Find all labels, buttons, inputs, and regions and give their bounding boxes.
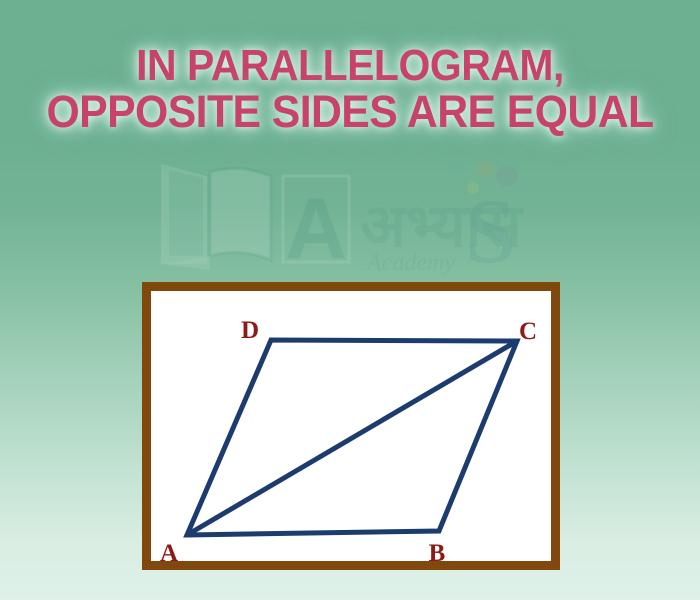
logo-devanagari-text: अभ्यास	[360, 191, 524, 261]
diagram-frame: A B C D	[142, 282, 560, 570]
diagonal-line-ac	[187, 341, 517, 535]
svg-text:Academy: Academy	[365, 250, 455, 276]
svg-text:A: A	[285, 181, 347, 277]
page-title: IN PARALLELOGRAM, OPPOSITE SIDES ARE EQU…	[0, 44, 700, 135]
slide-canvas: IN PARALLELOGRAM, OPPOSITE SIDES ARE EQU…	[0, 0, 700, 600]
watermark-logo: A अभ्यास S Academy	[155, 158, 555, 278]
vertex-label-d: D	[241, 317, 259, 344]
title-line-1: IN PARALLELOGRAM,	[25, 44, 676, 89]
svg-text:S: S	[465, 180, 516, 278]
parallelogram-diagram: A B C D	[151, 291, 551, 561]
logo-script-text: Academy	[365, 250, 455, 276]
title-line-2: OPPOSITE SIDES ARE EQUAL	[18, 89, 683, 135]
logo-letter-a: A	[283, 176, 349, 277]
svg-text:अभ्यास: अभ्यास	[360, 191, 524, 261]
open-book-icon	[161, 164, 271, 270]
vertex-label-a: A	[160, 540, 178, 561]
logo-decorative-dots	[448, 161, 518, 194]
vertex-label-b: B	[429, 540, 446, 561]
logo-letter-s: S	[465, 180, 516, 278]
vertex-label-c: C	[519, 318, 537, 345]
